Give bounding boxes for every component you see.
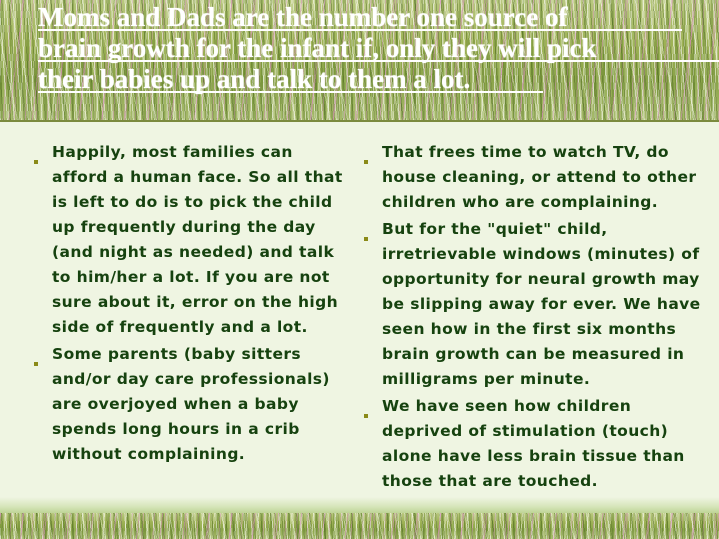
bullet-square-icon <box>356 217 382 246</box>
bullet-square-icon <box>356 394 382 423</box>
title-underline-3 <box>38 91 543 93</box>
list-item: Happily, most families can afford a huma… <box>26 140 348 340</box>
title-underline-1 <box>38 29 682 31</box>
list-item: We have seen how children deprived of st… <box>356 394 708 494</box>
list-item-text: But for the "quiet" child, irretrievable… <box>382 217 708 392</box>
title-underline-2 <box>38 60 719 62</box>
title-line-3: their babies up and talk to them a lot. <box>0 64 719 95</box>
slide-title: Moms and Dads are the number one source … <box>0 0 719 122</box>
bullet-square-icon <box>26 342 52 371</box>
title-line-1-text: Moms and Dads are the number one source … <box>38 2 568 32</box>
list-item: That frees time to watch TV, do house cl… <box>356 140 708 215</box>
list-item-text: Some parents (baby sitters and/or day ca… <box>52 342 348 467</box>
list-item-text: That frees time to watch TV, do house cl… <box>382 140 708 215</box>
footer-grass-background <box>0 513 719 539</box>
list-item: But for the "quiet" child, irretrievable… <box>356 217 708 392</box>
list-item: Some parents (baby sitters and/or day ca… <box>26 342 348 467</box>
right-content-column: That frees time to watch TV, do house cl… <box>356 140 708 496</box>
list-item-text: We have seen how children deprived of st… <box>382 394 708 494</box>
bullet-square-icon <box>356 140 382 169</box>
presentation-slide: Moms and Dads are the number one source … <box>0 0 719 539</box>
title-line-2-text: brain growth for the infant if, only the… <box>38 33 597 63</box>
list-item-text: Happily, most families can afford a huma… <box>52 140 348 340</box>
bullet-square-icon <box>26 140 52 169</box>
body-bottom-fade <box>0 497 719 513</box>
title-line-2: brain growth for the infant if, only the… <box>0 33 719 64</box>
left-content-column: Happily, most families can afford a huma… <box>26 140 348 469</box>
title-line-3-text: their babies up and talk to them a lot. <box>38 64 470 94</box>
slide-body: Happily, most families can afford a huma… <box>0 122 719 513</box>
title-line-1: Moms and Dads are the number one source … <box>0 2 719 33</box>
